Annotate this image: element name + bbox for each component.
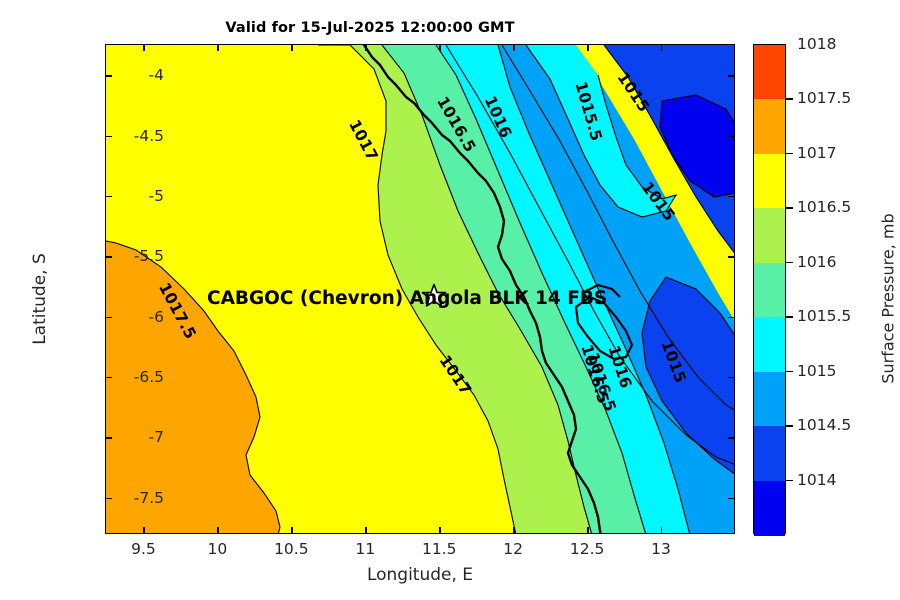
colorbar-band bbox=[754, 481, 785, 536]
x-tick-mark bbox=[143, 527, 144, 534]
x-tick-label: 12 bbox=[503, 540, 523, 558]
colorbar-tick-label: 1017 bbox=[797, 144, 836, 162]
y-tick-mark-right bbox=[728, 498, 735, 499]
colorbar-tick-mark bbox=[786, 262, 793, 263]
colorbar-band bbox=[754, 372, 785, 427]
colorbar-tick-label: 1015.5 bbox=[797, 307, 851, 325]
y-tick-label: -7 bbox=[149, 428, 164, 446]
colorbar-tick-mark bbox=[786, 98, 793, 99]
x-tick-label: 12.5 bbox=[570, 540, 605, 558]
x-tick-mark bbox=[439, 527, 440, 534]
x-tick-mark bbox=[291, 527, 292, 534]
y-tick-mark-right bbox=[728, 256, 735, 257]
colorbar-tick-mark bbox=[786, 371, 793, 372]
colorbar-tick-mark bbox=[786, 316, 793, 317]
y-tick-mark-right bbox=[728, 75, 735, 76]
y-tick-label: -6.5 bbox=[134, 368, 164, 386]
figure-root: Valid for 15-Jul-2025 12:00:00 GMT bbox=[0, 0, 900, 600]
y-tick-mark bbox=[105, 75, 112, 76]
y-tick-mark bbox=[105, 437, 112, 438]
x-axis-title: Longitude, E bbox=[105, 565, 735, 585]
station-label: CABGOC (Chevron) Angola BLK 14 FBS bbox=[207, 288, 607, 309]
colorbar-band bbox=[754, 208, 785, 263]
x-tick-label: 13 bbox=[651, 540, 671, 558]
colorbar-tick-mark bbox=[786, 480, 793, 481]
y-tick-label: -5 bbox=[149, 187, 164, 205]
colorbar[interactable] bbox=[753, 44, 786, 534]
x-tick-mark-top bbox=[587, 44, 588, 51]
y-tick-mark-right bbox=[728, 317, 735, 318]
colorbar-band bbox=[754, 154, 785, 209]
y-tick-mark bbox=[105, 256, 112, 257]
x-tick-mark-top bbox=[291, 44, 292, 51]
y-tick-label: -4 bbox=[149, 66, 164, 84]
y-tick-mark bbox=[105, 317, 112, 318]
x-tick-label: 10.5 bbox=[274, 540, 309, 558]
y-tick-label: -4.5 bbox=[134, 127, 164, 145]
y-tick-label: -7.5 bbox=[134, 489, 164, 507]
colorbar-band bbox=[754, 99, 785, 154]
x-tick-mark-top bbox=[217, 44, 218, 51]
x-tick-mark bbox=[365, 527, 366, 534]
y-tick-label: -5.5 bbox=[134, 247, 164, 265]
y-tick-mark bbox=[105, 136, 112, 137]
x-tick-mark-top bbox=[513, 44, 514, 51]
x-tick-mark bbox=[661, 527, 662, 534]
x-tick-label: 9.5 bbox=[131, 540, 156, 558]
colorbar-band bbox=[754, 426, 785, 481]
x-tick-label: 10 bbox=[208, 540, 228, 558]
colorbar-tick-label: 1016.5 bbox=[797, 198, 851, 216]
y-tick-mark-right bbox=[728, 196, 735, 197]
y-tick-mark bbox=[105, 377, 112, 378]
colorbar-tick-mark bbox=[786, 207, 793, 208]
page-title: Valid for 15-Jul-2025 12:00:00 GMT bbox=[0, 20, 740, 36]
colorbar-tick-label: 1018 bbox=[797, 35, 836, 53]
x-tick-mark-top bbox=[661, 44, 662, 51]
y-tick-mark bbox=[105, 196, 112, 197]
x-tick-mark-top bbox=[143, 44, 144, 51]
y-tick-mark bbox=[105, 498, 112, 499]
x-tick-mark-top bbox=[439, 44, 440, 51]
y-axis-title: Latitude, S bbox=[30, 199, 50, 399]
colorbar-tick-label: 1016 bbox=[797, 253, 836, 271]
x-tick-label: 11.5 bbox=[422, 540, 457, 558]
x-tick-mark-top bbox=[365, 44, 366, 51]
colorbar-tick-label: 1015 bbox=[797, 362, 836, 380]
colorbar-band bbox=[754, 317, 785, 372]
x-tick-mark bbox=[217, 527, 218, 534]
colorbar-tick-mark bbox=[786, 425, 793, 426]
y-tick-label: -6 bbox=[149, 308, 164, 326]
colorbar-tick-mark bbox=[786, 153, 793, 154]
colorbar-tick-label: 1017.5 bbox=[797, 89, 851, 107]
colorbar-band bbox=[754, 45, 785, 100]
y-tick-mark-right bbox=[728, 136, 735, 137]
x-tick-mark bbox=[587, 527, 588, 534]
x-tick-label: 11 bbox=[355, 540, 375, 558]
x-tick-mark bbox=[513, 527, 514, 534]
y-tick-mark-right bbox=[728, 437, 735, 438]
y-tick-mark-right bbox=[728, 377, 735, 378]
colorbar-tick-label: 1014.5 bbox=[797, 416, 851, 434]
colorbar-band bbox=[754, 263, 785, 318]
colorbar-title: Surface Pressure, mb bbox=[879, 169, 898, 429]
colorbar-tick-label: 1014 bbox=[797, 471, 836, 489]
